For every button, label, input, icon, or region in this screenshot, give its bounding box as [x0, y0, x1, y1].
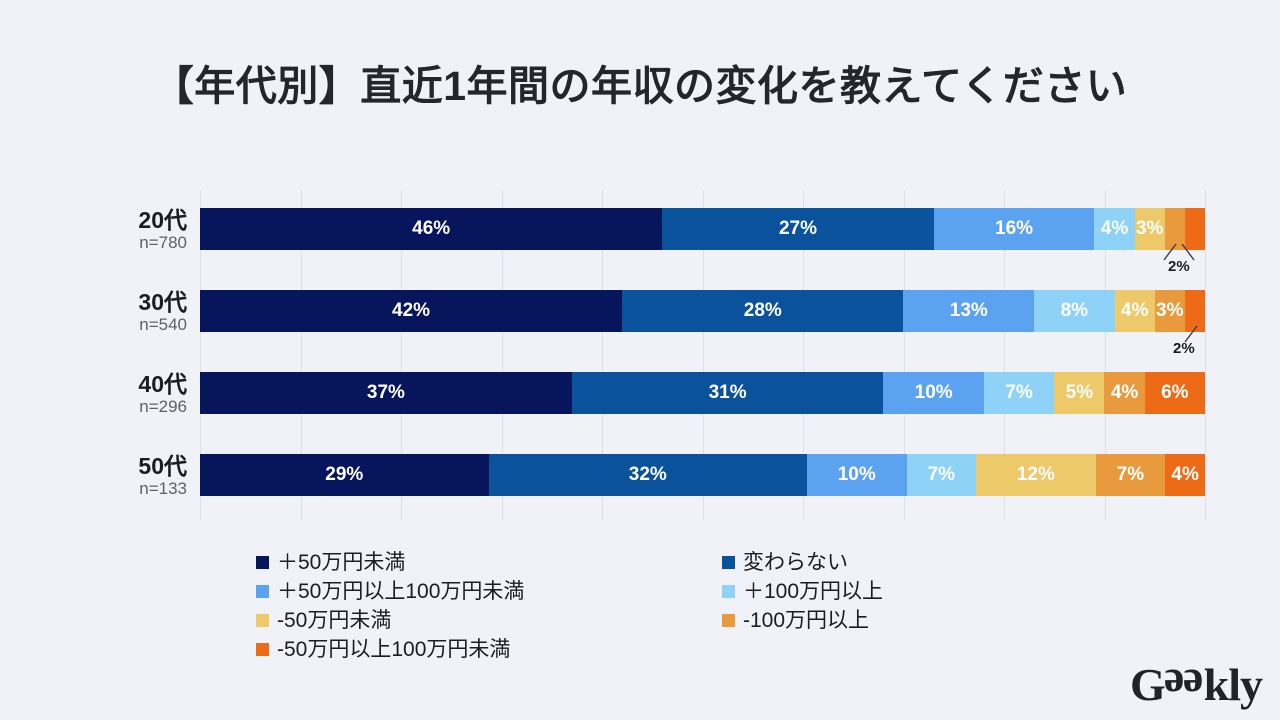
category-label-40dai: 40代 n=296 — [45, 372, 195, 417]
bar-segment[interactable]: 37% — [200, 372, 572, 414]
bar-segment[interactable]: 8% — [1034, 290, 1114, 332]
legend-label: ＋50万円以上100万円未満 — [277, 581, 524, 602]
category-age: 50代 — [45, 454, 187, 478]
chart-plot-area: 46%27%16%4%3%42%28%13%8%4%3%37%31%10%7%5… — [200, 190, 1205, 520]
category-sample-size: n=780 — [45, 232, 187, 253]
bar-segment[interactable]: 13% — [903, 290, 1034, 332]
bar-segment[interactable]: 4% — [1094, 208, 1134, 250]
category-age: 40代 — [45, 372, 187, 396]
bar-segment[interactable]: 4% — [1104, 372, 1144, 414]
bar-segment[interactable]: 4% — [1165, 454, 1205, 496]
bar-segment[interactable]: 4% — [1115, 290, 1155, 332]
legend-swatch-icon — [722, 556, 735, 569]
logo-e1: e — [1165, 662, 1184, 708]
category-sample-size: n=296 — [45, 396, 187, 417]
category-label-30dai: 30代 n=540 — [45, 290, 195, 335]
chart-bar-row[interactable]: 46%27%16%4%3% — [200, 208, 1205, 250]
legend-item[interactable]: -100万円以上 — [722, 606, 883, 635]
legend-label: -50万円以上100万円未満 — [277, 639, 510, 660]
chart-bar-row[interactable]: 37%31%10%7%5%4%6% — [200, 372, 1205, 414]
bar-segment[interactable]: 27% — [662, 208, 933, 250]
legend-label: ＋50万円未満 — [277, 552, 405, 573]
bar-segment[interactable]: 46% — [200, 208, 662, 250]
logo-g: G — [1130, 659, 1165, 710]
chart-bar-row[interactable]: 42%28%13%8%4%3% — [200, 290, 1205, 332]
legend-column-left: ＋50万円未満＋50万円以上100万円未満-50万円未満-50万円以上100万円… — [256, 548, 524, 664]
legend-item[interactable]: -50万円未満 — [256, 606, 524, 635]
callout-2pct-row-30dai: 2% — [1173, 340, 1195, 357]
legend-swatch-icon — [256, 614, 269, 627]
category-label-20dai: 20代 n=780 — [45, 208, 195, 253]
chart-bar-row[interactable]: 29%32%10%7%12%7%4% — [200, 454, 1205, 496]
slide-canvas: 【年代別】直近1年間の年収の変化を教えてください 20代 n=780 30代 n… — [0, 0, 1280, 720]
legend-swatch-icon — [722, 614, 735, 627]
legend-item[interactable]: ＋50万円以上100万円未満 — [256, 577, 524, 606]
bar-segment[interactable]: 16% — [934, 208, 1095, 250]
bar-segment[interactable]: 32% — [489, 454, 807, 496]
logo-e2: e — [1184, 662, 1203, 708]
legend-label: -100万円以上 — [743, 610, 869, 631]
bar-segment[interactable]: 29% — [200, 454, 489, 496]
legend-swatch-icon — [256, 585, 269, 598]
legend-item[interactable]: -50万円以上100万円未満 — [256, 635, 524, 664]
bar-segment[interactable]: 7% — [1096, 454, 1166, 496]
callout-2pct-row-20dai: 2% — [1168, 258, 1190, 275]
bar-segment[interactable]: 10% — [883, 372, 984, 414]
legend-swatch-icon — [722, 585, 735, 598]
legend-swatch-icon — [256, 556, 269, 569]
bar-segment[interactable]: 7% — [984, 372, 1054, 414]
category-sample-size: n=540 — [45, 314, 187, 335]
bar-segment[interactable]: 31% — [572, 372, 884, 414]
category-age: 20代 — [45, 208, 187, 232]
legend-swatch-icon — [256, 643, 269, 656]
legend-item[interactable]: ＋100万円以上 — [722, 577, 883, 606]
legend-column-right: 変わらない＋100万円以上-100万円以上 — [722, 548, 883, 635]
page-title: 【年代別】直近1年間の年収の変化を教えてください — [0, 52, 1280, 112]
logo-kly: kly — [1204, 659, 1262, 710]
bar-segment[interactable]: 7% — [907, 454, 977, 496]
category-age: 30代 — [45, 290, 187, 314]
bar-segment[interactable]: 5% — [1054, 372, 1104, 414]
bar-segment[interactable]: 42% — [200, 290, 622, 332]
legend-label: ＋100万円以上 — [743, 581, 883, 602]
bar-segment[interactable]: 12% — [976, 454, 1095, 496]
legend-item[interactable]: ＋50万円未満 — [256, 548, 524, 577]
legend-label: -50万円未満 — [277, 610, 391, 631]
category-label-50dai: 50代 n=133 — [45, 454, 195, 499]
bar-segment[interactable]: 10% — [807, 454, 907, 496]
legend-item[interactable]: 変わらない — [722, 548, 883, 577]
category-sample-size: n=133 — [45, 478, 187, 499]
gridline-100 — [1205, 190, 1206, 520]
geekly-logo: Geekly — [1130, 662, 1262, 708]
bar-segment[interactable]: 6% — [1145, 372, 1205, 414]
bar-segment[interactable]: 28% — [622, 290, 903, 332]
legend-label: 変わらない — [743, 552, 848, 573]
